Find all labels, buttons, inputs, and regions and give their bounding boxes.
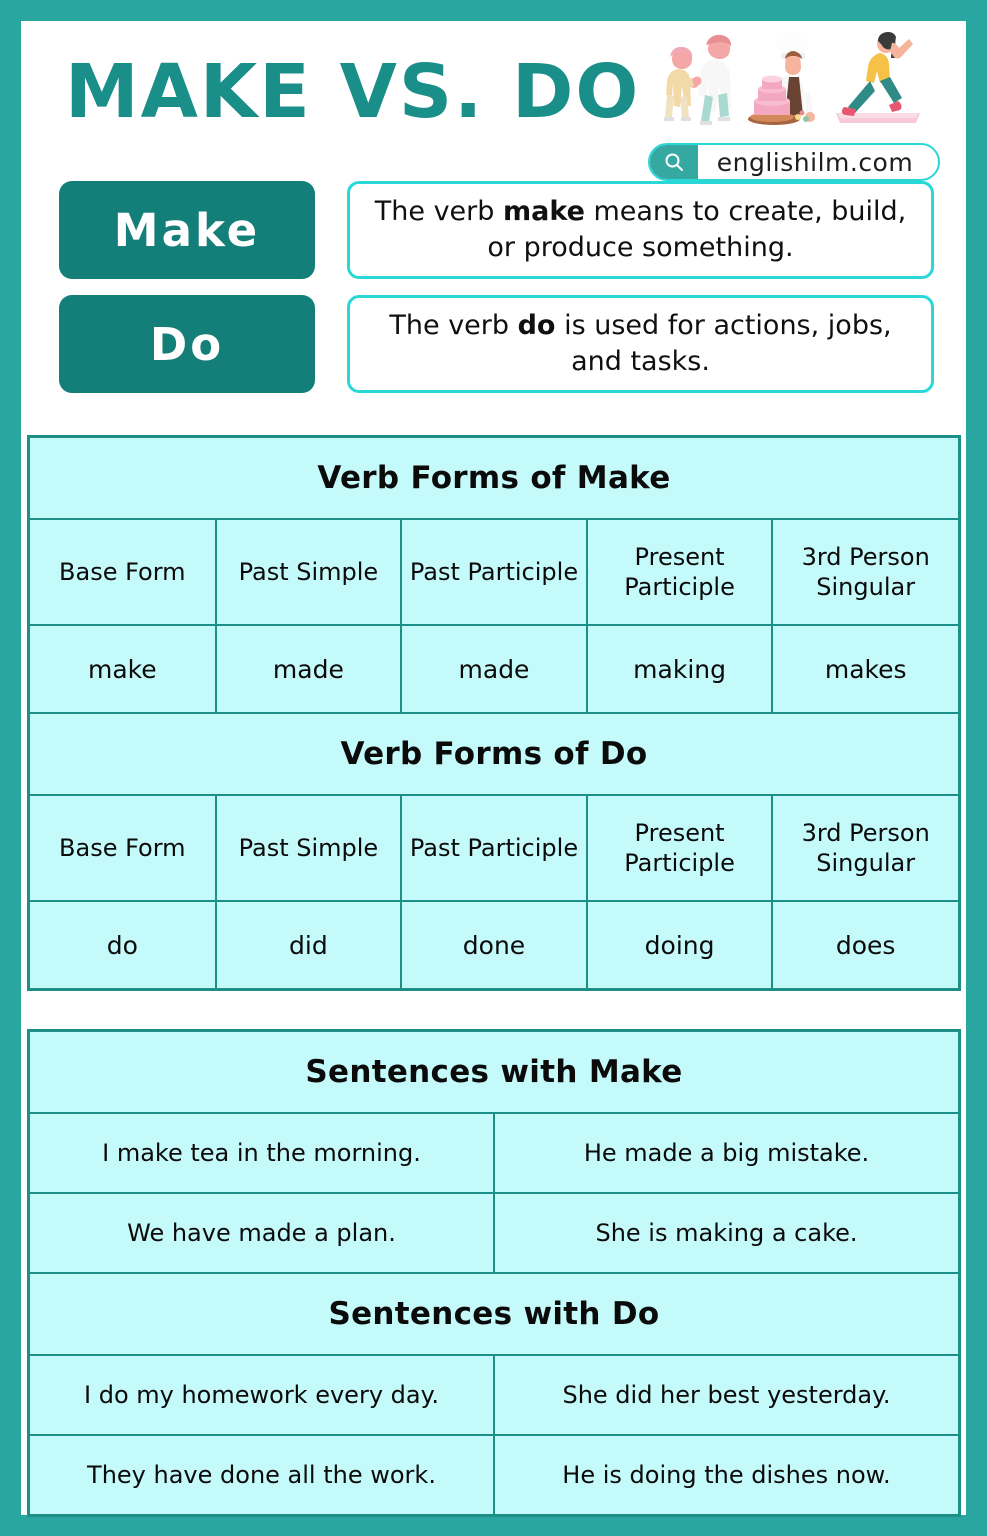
- table-row: We have made a plan. She is making a cak…: [30, 1193, 958, 1273]
- brand-domain-text: englishilm.com: [698, 148, 938, 177]
- verb-forms-table: Verb Forms of Make Base Form Past Simple…: [30, 438, 958, 988]
- sentence-do-1: I do my homework every day.: [30, 1355, 494, 1435]
- value-do-base-form: do: [30, 901, 216, 988]
- section-title-verb-forms-do: Verb Forms of Do: [30, 713, 958, 795]
- table-row: Base Form Past Simple Past Participle Pr…: [30, 519, 958, 625]
- table-row: make made made making makes: [30, 625, 958, 713]
- sentences-table: Sentences with Make I make tea in the mo…: [30, 1032, 958, 1514]
- sentence-make-2: He made a big mistake.: [494, 1113, 958, 1193]
- definition-make-text-before: The verb: [375, 196, 503, 227]
- value-do-present-participle: doing: [587, 901, 773, 988]
- definition-box-make: The verb make means to create, build, or…: [347, 181, 934, 279]
- header-do-past-simple: Past Simple: [216, 795, 402, 901]
- header-do-present-participle: Present Participle: [587, 795, 773, 901]
- table-row: Verb Forms of Make: [30, 438, 958, 519]
- illustration-group: [648, 35, 948, 131]
- value-make-present-participle: making: [587, 625, 773, 713]
- header-do-base-form: Base Form: [30, 795, 216, 901]
- yoga-pose-illustration: [832, 31, 924, 131]
- parent-and-child-illustration: [656, 31, 738, 131]
- table-row: do did done doing does: [30, 901, 958, 988]
- definition-make-bold-word: make: [503, 196, 585, 227]
- header-make-present-participle: Present Participle: [587, 519, 773, 625]
- definition-do-text-after: is used for actions, jobs, and tasks.: [556, 310, 892, 377]
- table-row: Base Form Past Simple Past Participle Pr…: [30, 795, 958, 901]
- search-icon: [650, 145, 698, 179]
- definitions-section: Make The verb make means to create, buil…: [21, 181, 966, 409]
- value-make-third-person-singular: makes: [772, 625, 958, 713]
- section-title-verb-forms-make: Verb Forms of Make: [30, 438, 958, 519]
- header-make-base-form: Base Form: [30, 519, 216, 625]
- sentence-make-1: I make tea in the morning.: [30, 1113, 494, 1193]
- value-do-third-person-singular: does: [772, 901, 958, 988]
- value-make-base-form: make: [30, 625, 216, 713]
- verb-forms-block: Verb Forms of Make Base Form Past Simple…: [27, 435, 961, 991]
- header-make-past-simple: Past Simple: [216, 519, 402, 625]
- sentence-make-4: She is making a cake.: [494, 1193, 958, 1273]
- value-make-past-participle: made: [401, 625, 587, 713]
- definition-do-bold-word: do: [518, 310, 556, 341]
- sentence-do-4: He is doing the dishes now.: [494, 1435, 958, 1514]
- definition-row-make: Make The verb make means to create, buil…: [21, 181, 966, 279]
- definition-box-do: The verb do is used for actions, jobs, a…: [347, 295, 934, 393]
- sentence-do-3: They have done all the work.: [30, 1435, 494, 1514]
- header-make-third-person-singular: 3rd Person Singular: [772, 519, 958, 625]
- table-row: Verb Forms of Do: [30, 713, 958, 795]
- sentence-do-2: She did her best yesterday.: [494, 1355, 958, 1435]
- brand-block: englishilm.com: [648, 35, 948, 181]
- poster-canvas: MAKE VS. DO: [21, 21, 966, 1515]
- header-do-third-person-singular: 3rd Person Singular: [772, 795, 958, 901]
- header: MAKE VS. DO: [21, 21, 966, 176]
- sentences-block: Sentences with Make I make tea in the mo…: [27, 1029, 961, 1517]
- badge-make: Make: [59, 181, 315, 279]
- header-do-past-participle: Past Participle: [401, 795, 587, 901]
- table-row: They have done all the work. He is doing…: [30, 1435, 958, 1514]
- definition-do-text-before: The verb: [389, 310, 517, 341]
- section-title-sentences-do: Sentences with Do: [30, 1273, 958, 1355]
- value-make-past-simple: made: [216, 625, 402, 713]
- page-title: MAKE VS. DO: [65, 55, 640, 129]
- table-row: I do my homework every day. She did her …: [30, 1355, 958, 1435]
- table-row: Sentences with Do: [30, 1273, 958, 1355]
- header-make-past-participle: Past Participle: [401, 519, 587, 625]
- table-row: I make tea in the morning. He made a big…: [30, 1113, 958, 1193]
- baker-with-cake-illustration: [748, 31, 822, 131]
- table-row: Sentences with Make: [30, 1032, 958, 1113]
- value-do-past-simple: did: [216, 901, 402, 988]
- value-do-past-participle: done: [401, 901, 587, 988]
- sentence-make-3: We have made a plan.: [30, 1193, 494, 1273]
- brand-search-pill[interactable]: englishilm.com: [648, 143, 940, 181]
- badge-do: Do: [59, 295, 315, 393]
- section-title-sentences-make: Sentences with Make: [30, 1032, 958, 1113]
- definition-row-do: Do The verb do is used for actions, jobs…: [21, 295, 966, 393]
